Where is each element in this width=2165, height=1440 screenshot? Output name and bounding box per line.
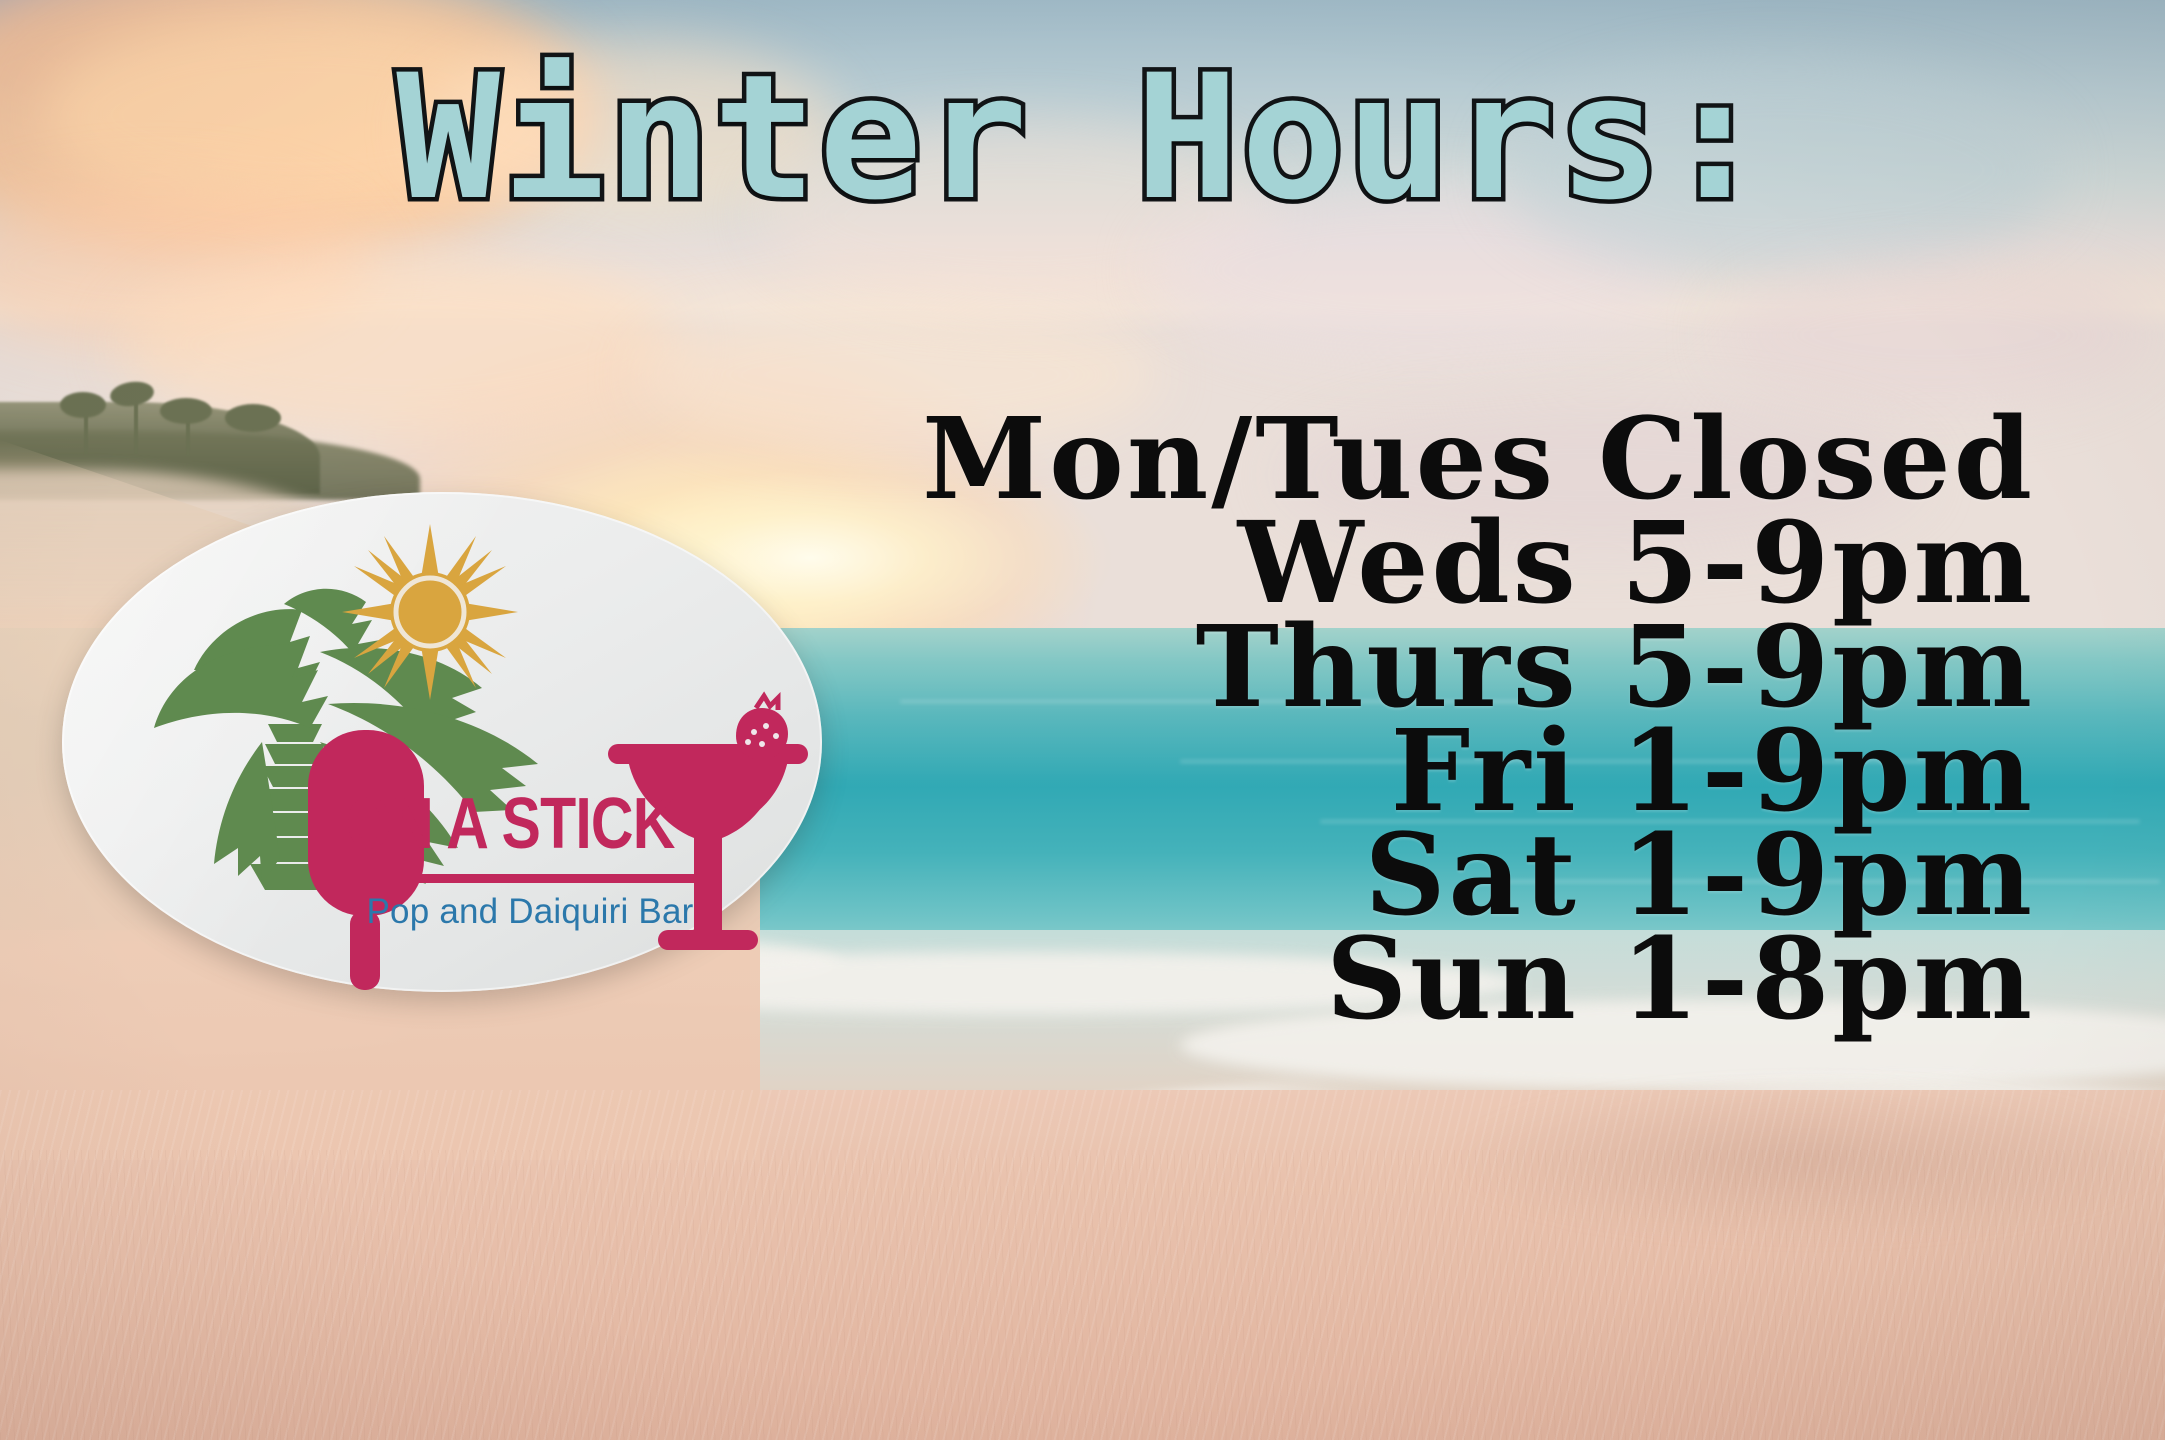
page-title: Winter Hours: (0, 52, 2165, 224)
brand-name: ON A STICK (346, 788, 690, 860)
logo: ON A STICK Pop and Daiquiri Bar (62, 492, 822, 992)
sun-icon (342, 524, 518, 700)
winter-hours-poster: Winter Hours: Mon/Tues Closed Weds 5-9pm… (0, 0, 2165, 1440)
brand-tagline: Pop and Daiquiri Bar (330, 890, 730, 934)
brand-divider (348, 874, 708, 883)
